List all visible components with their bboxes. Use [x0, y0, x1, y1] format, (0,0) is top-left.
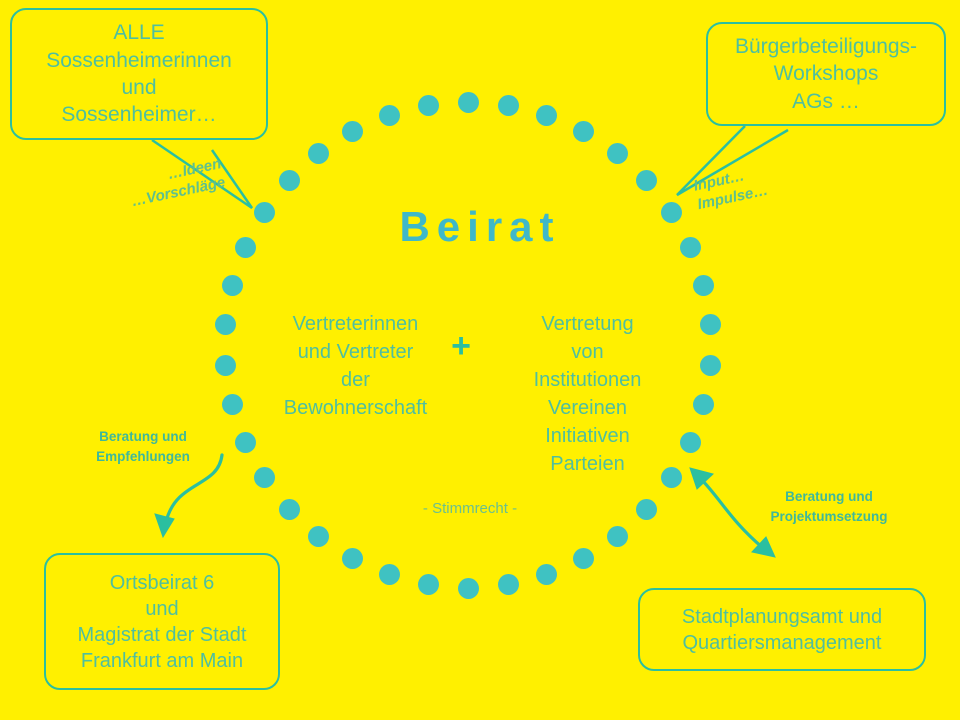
bubble-alle-line-1: ALLE [12, 19, 266, 46]
beirat-left-column: Vertreterinnen und Vertreter der Bewohne… [268, 310, 443, 422]
box-stadtplanung-line-1: Stadtplanungsamt und [640, 604, 924, 630]
circle-dot [308, 143, 329, 164]
arrow-head-down-right [752, 537, 775, 557]
circle-dot [636, 499, 657, 520]
box-ortsbeirat-line-3: Magistrat der Stadt [46, 622, 278, 648]
left-column-line-3: der [268, 366, 443, 394]
circle-dot [498, 574, 519, 595]
circle-dot [680, 432, 701, 453]
circle-dot [700, 314, 721, 335]
left-column-line-2: und Vertreter [268, 338, 443, 366]
circle-dot [458, 92, 479, 113]
circle-dot [418, 574, 439, 595]
circle-dot [235, 432, 256, 453]
right-column-line-3: Institutionen [500, 366, 675, 394]
right-column-line-6: Parteien [500, 450, 675, 478]
circle-dot [279, 499, 300, 520]
circle-dot [215, 314, 236, 335]
circle-dot [418, 95, 439, 116]
circle-dot [222, 275, 243, 296]
circle-dot [636, 170, 657, 191]
annotation-beratung-empfehlungen-line-1: Beratung und [78, 427, 208, 447]
arrow-head-down-left [155, 514, 174, 537]
box-ortsbeirat-line-4: Frankfurt am Main [46, 648, 278, 674]
annotation-beratung-empfehlungen: Beratung und Empfehlungen [78, 427, 208, 466]
bubble-buergerbeteiligungs-workshops: Bürgerbeteiligungs- Workshops AGs … [706, 22, 946, 126]
circle-dot [458, 578, 479, 599]
box-ortsbeirat-line-2: und [46, 596, 278, 622]
right-column-line-5: Initiativen [500, 422, 675, 450]
circle-dot [342, 548, 363, 569]
bubble-workshops-line-1: Bürgerbeteiligungs- [708, 33, 944, 60]
circle-dot [222, 394, 243, 415]
bubble-workshops-line-2: Workshops [708, 60, 944, 87]
bubble-alle-line-2: Sossenheimerinnen [12, 47, 266, 74]
left-column-line-1: Vertreterinnen [268, 310, 443, 338]
bubble-alle-line-4: Sossenheimer… [12, 101, 266, 128]
circle-dot [279, 170, 300, 191]
voting-rights-note: - Stimmrecht - [350, 500, 590, 517]
annotation-beratung-projekt-line-1: Beratung und [744, 487, 914, 507]
page-title: Beirat [0, 203, 960, 251]
beirat-right-column: Vertretung von Institutionen Vereinen In… [500, 310, 675, 478]
bubble-workshops-line-3: AGs … [708, 88, 944, 115]
circle-dot [308, 526, 329, 547]
circle-dot [215, 355, 236, 376]
circle-dot [573, 548, 594, 569]
bubble-alle-sossenheimer: ALLE Sossenheimerinnen und Sossenheimer… [10, 8, 268, 140]
circle-dot [379, 564, 400, 585]
box-stadtplanungsamt-quartiersmanagement: Stadtplanungsamt und Quartiersmanagement [638, 588, 926, 671]
bubble-alle-line-3: und [12, 74, 266, 101]
annotation-beratung-projektumsetzung: Beratung und Projektumsetzung [744, 487, 914, 526]
circle-dot [342, 121, 363, 142]
box-ortsbeirat-magistrat: Ortsbeirat 6 und Magistrat der Stadt Fra… [44, 553, 280, 690]
circle-dot [536, 564, 557, 585]
box-ortsbeirat-line-1: Ortsbeirat 6 [46, 570, 278, 596]
annotation-beratung-projekt-line-2: Projektumsetzung [744, 507, 914, 527]
annotation-beratung-empfehlungen-line-2: Empfehlungen [78, 447, 208, 467]
circle-dot [700, 355, 721, 376]
diagram-canvas: Beirat Vertreterinnen und Vertreter der … [0, 0, 960, 720]
right-column-line-2: von [500, 338, 675, 366]
circle-dot [573, 121, 594, 142]
circle-dot [254, 467, 275, 488]
arrow-head-up-left [690, 468, 713, 489]
left-column-line-4: Bewohnerschaft [268, 394, 443, 422]
circle-dot [607, 526, 628, 547]
circle-dot [498, 95, 519, 116]
circle-dot [693, 394, 714, 415]
right-column-line-4: Vereinen [500, 394, 675, 422]
right-column-line-1: Vertretung [500, 310, 675, 338]
box-stadtplanung-line-2: Quartiersmanagement [640, 630, 924, 656]
circle-dot [607, 143, 628, 164]
circle-dot [693, 275, 714, 296]
circle-dot [379, 105, 400, 126]
plus-icon: + [443, 328, 479, 364]
circle-dot [536, 105, 557, 126]
